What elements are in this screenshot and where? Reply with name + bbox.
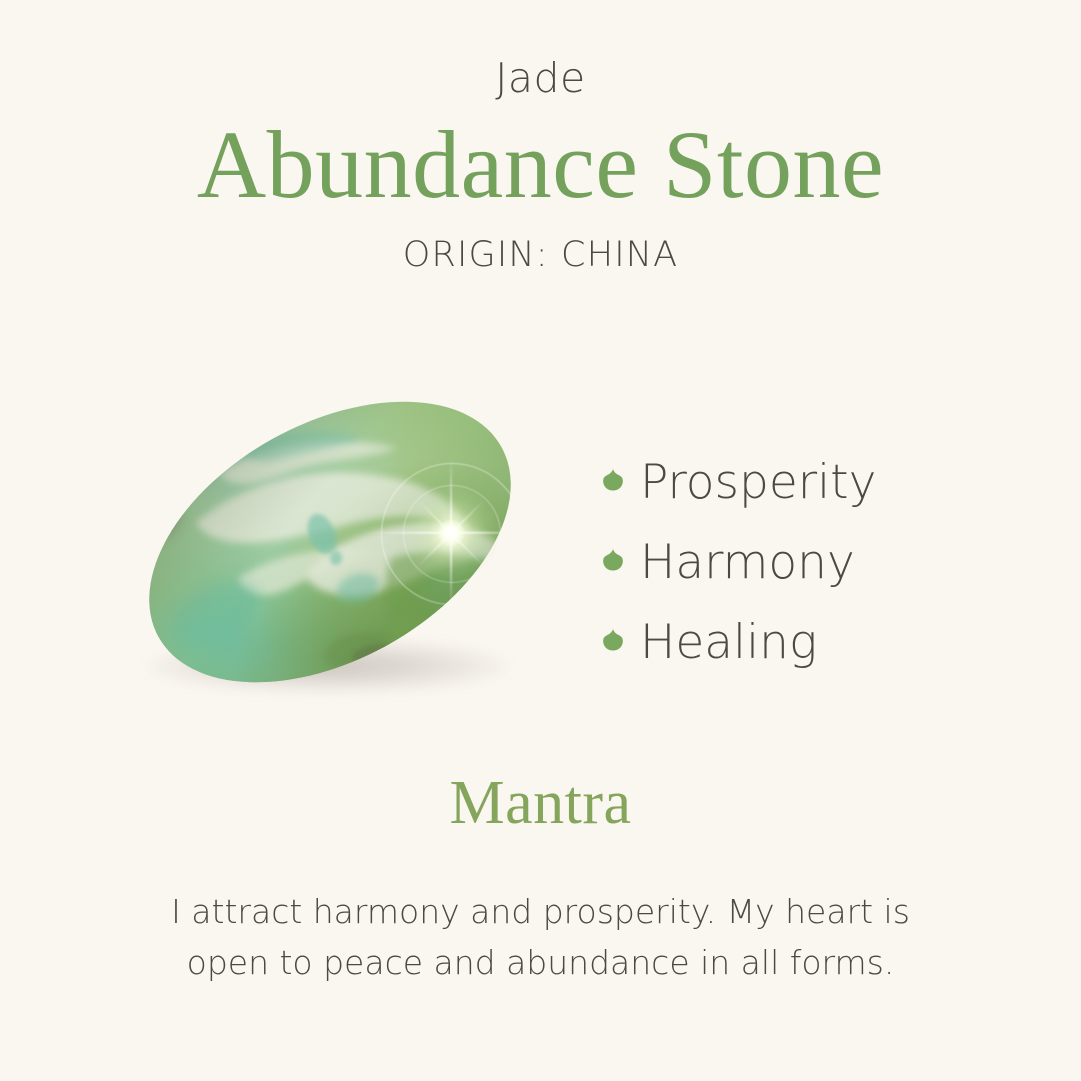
property-label: Healing (640, 619, 817, 666)
stone-body (130, 382, 530, 702)
stone-illustration (120, 370, 570, 740)
stone-watercolor-svg (130, 382, 530, 702)
card-header: Jade Abundance Stone ORIGIN: CHINA (0, 0, 1081, 273)
list-item: Harmony (600, 522, 1020, 602)
property-label: Prosperity (640, 459, 876, 506)
property-label: Harmony (640, 539, 855, 586)
list-item: Prosperity (600, 442, 1020, 522)
mantra-section: Mantra I attract harmony and prosperity.… (0, 772, 1081, 988)
properties-list: Prosperity Harmony Healing (600, 442, 1020, 682)
leaf-drop-bullet-icon (600, 627, 626, 657)
mantra-text: I attract harmony and prosperity. My hea… (146, 886, 936, 988)
stone-name-eyebrow: Jade (0, 58, 1081, 99)
page-title: Abundance Stone (0, 115, 1081, 216)
stone-info-card: Jade Abundance Stone ORIGIN: CHINA (0, 0, 1081, 1081)
origin-label: ORIGIN: CHINA (0, 238, 1081, 273)
mantra-heading: Mantra (0, 772, 1081, 834)
leaf-drop-bullet-icon (600, 467, 626, 497)
list-item: Healing (600, 602, 1020, 682)
leaf-drop-bullet-icon (600, 547, 626, 577)
